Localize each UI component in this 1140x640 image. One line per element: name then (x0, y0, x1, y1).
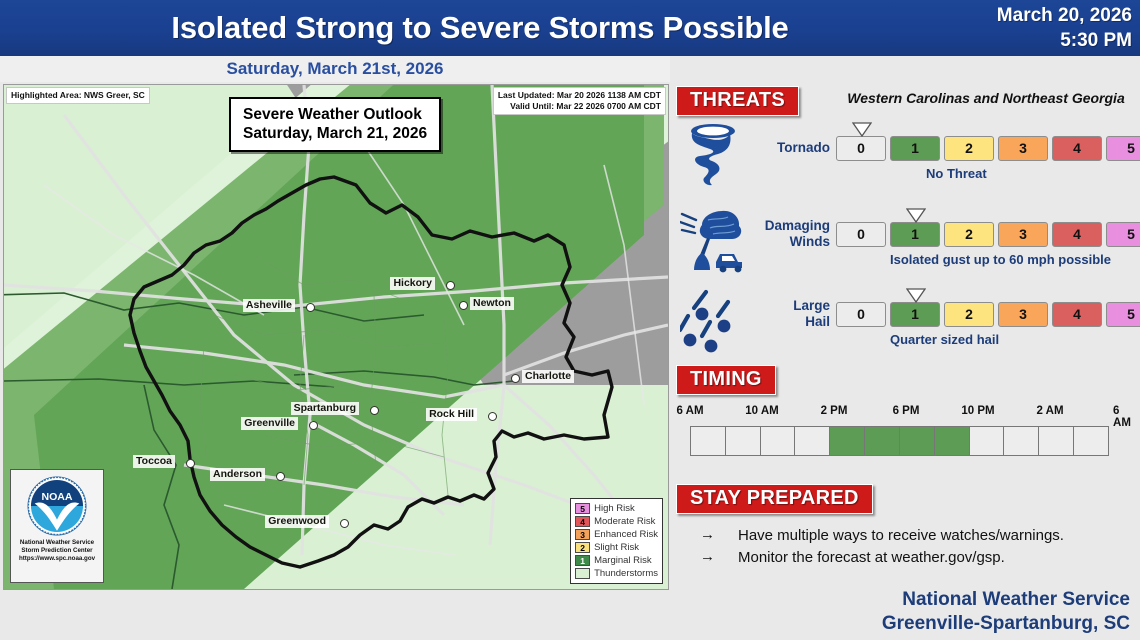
city-dot-icon (446, 281, 455, 290)
noaa-line-3: https://www.spc.noaa.gov (11, 555, 103, 563)
legend-swatch: 4 (575, 516, 590, 527)
right-column: THREATS Western Carolinas and Northeast … (676, 60, 1136, 580)
legend-row: Thunderstorms (575, 567, 658, 580)
threat-scale-cell[interactable]: 5 (1106, 302, 1140, 327)
threat-scale-cell[interactable]: 4 (1052, 136, 1102, 161)
timing-cell[interactable] (1073, 426, 1109, 456)
threat-scale-cell[interactable]: 2 (944, 136, 994, 161)
timing-cell[interactable] (794, 426, 830, 456)
threat-name-label: LargeHail (738, 298, 830, 330)
header-bar: Isolated Strong to Severe Storms Possibl… (0, 0, 1140, 56)
legend-swatch (575, 568, 590, 579)
legend-row: 4Moderate Risk (575, 515, 658, 528)
page-title: Isolated Strong to Severe Storms Possibl… (0, 6, 960, 50)
legend-row: 5High Risk (575, 502, 658, 515)
city-label: Asheville (243, 299, 295, 312)
legend-row: 1Marginal Risk (575, 554, 658, 567)
threat-scale-cell[interactable]: 2 (944, 222, 994, 247)
footer-line-1: National Weather Service (882, 588, 1130, 612)
stay-prepared-text: Monitor the forecast at weather.gov/gsp. (738, 548, 1005, 567)
city-label: Newton (470, 297, 514, 310)
threat-scale-cell[interactable]: 3 (998, 222, 1048, 247)
timing-axis-label: 6 AM (1113, 405, 1131, 429)
threat-description: Isolated gust up to 60 mph possible (890, 252, 1111, 267)
stay-prepared-list: →Have multiple ways to receive watches/w… (700, 526, 1130, 570)
map-update-note: Last Updated: Mar 20 2026 1138 AM CDT Va… (493, 87, 666, 115)
timing-cell[interactable] (899, 426, 935, 456)
city-dot-icon (459, 301, 468, 310)
city-dot-icon (488, 412, 497, 421)
outlook-title-box: Severe Weather Outlook Saturday, March 2… (229, 97, 441, 152)
noaa-seal-icon: NOAA (26, 475, 88, 537)
timing-axis-label: 2 PM (821, 405, 848, 417)
risk-legend: 5High Risk4Moderate Risk3Enhanced Risk2S… (570, 498, 663, 584)
city-dot-icon (276, 472, 285, 481)
threat-scale-cell[interactable]: 5 (1106, 136, 1140, 161)
legend-label: Marginal Risk (594, 555, 652, 566)
threat-scale-cell[interactable]: 0 (836, 302, 886, 327)
footer-line-2: Greenville-Spartanburg, SC (882, 612, 1130, 636)
legend-row: 2Slight Risk (575, 541, 658, 554)
threat-scale-cell[interactable]: 1 (890, 302, 940, 327)
legend-swatch: 1 (575, 555, 590, 566)
arrow-icon: → (700, 548, 738, 565)
legend-swatch: 2 (575, 542, 590, 553)
forecast-day-subtitle: Saturday, March 21st, 2026 (0, 56, 670, 82)
threat-name-label: Tornado (738, 140, 830, 156)
header-time-text: 5:30 PM (942, 28, 1132, 53)
stay-prepared-item: →Have multiple ways to receive watches/w… (700, 526, 1130, 545)
noaa-logo: NOAA National Weather Service Storm Pred… (10, 469, 104, 583)
legend-label: Moderate Risk (594, 516, 655, 527)
city-dot-icon (340, 519, 349, 528)
office-footer: National Weather Service Greenville-Spar… (882, 588, 1130, 636)
city-label: Anderson (210, 468, 265, 481)
svg-text:NOAA: NOAA (41, 491, 72, 503)
timing-axis-label: 6 PM (893, 405, 920, 417)
noaa-line-1: National Weather Service (11, 539, 103, 547)
last-updated-text: Last Updated: Mar 20 2026 1138 AM CDT (498, 90, 661, 101)
timing-cell[interactable] (760, 426, 796, 456)
weather-graphic: Isolated Strong to Severe Storms Possibl… (0, 0, 1140, 640)
legend-label: Thunderstorms (594, 568, 658, 579)
timing-heading: TIMING (676, 365, 776, 395)
legend-label: Slight Risk (594, 542, 639, 553)
legend-row: 3Enhanced Risk (575, 528, 658, 541)
city-dot-icon (186, 459, 195, 468)
outlook-title: Severe Weather Outlook (243, 105, 427, 124)
timing-bar (690, 426, 1108, 456)
timing-cell[interactable] (725, 426, 761, 456)
city-dot-icon (511, 374, 520, 383)
highlighted-area-note: Highlighted Area: NWS Greer, SC (6, 87, 150, 104)
threat-scale: 012345 (836, 222, 1140, 247)
city-label: Charlotte (522, 370, 574, 383)
city-dot-icon (306, 303, 315, 312)
threats-heading: THREATS (676, 86, 799, 116)
threat-scale-cell[interactable]: 0 (836, 222, 886, 247)
outlook-map: Highlighted Area: NWS Greer, SC Last Upd… (3, 84, 669, 590)
threat-scale: 012345 (836, 302, 1140, 327)
noaa-line-2: Storm Prediction Center (11, 547, 103, 555)
legend-swatch: 5 (575, 503, 590, 514)
stay-prepared-item: →Monitor the forecast at weather.gov/gsp… (700, 548, 1130, 567)
timing-cell[interactable] (829, 426, 865, 456)
header-timestamp: March 20, 2026 5:30 PM (942, 3, 1132, 53)
city-label: Toccoa (133, 455, 175, 468)
legend-swatch: 3 (575, 529, 590, 540)
city-label: Spartanburg (291, 402, 359, 415)
city-label: Greenville (241, 417, 298, 430)
stay-prepared-text: Have multiple ways to receive watches/wa… (738, 526, 1064, 545)
threat-scale-cell[interactable]: 0 (836, 136, 886, 161)
timing-axis-label: 10 AM (745, 405, 778, 417)
timing-axis-labels: 6 AM10 AM2 PM6 PM10 PM2 AM6 AM (680, 405, 1132, 421)
threat-scale-cell[interactable]: 3 (998, 302, 1048, 327)
threat-scale-cell[interactable]: 2 (944, 302, 994, 327)
arrow-icon: → (700, 526, 738, 543)
threat-scale-cell[interactable]: 4 (1052, 222, 1102, 247)
timing-cell[interactable] (934, 426, 970, 456)
city-dot-icon (370, 406, 379, 415)
city-label: Hickory (390, 277, 435, 290)
legend-label: High Risk (594, 503, 635, 514)
threats-region-label: Western Carolinas and Northeast Georgia (836, 90, 1136, 106)
threat-scale-cell[interactable]: 3 (998, 136, 1048, 161)
threat-scale-cell[interactable]: 1 (890, 222, 940, 247)
timing-cell[interactable] (969, 426, 1005, 456)
outlook-date: Saturday, March 21, 2026 (243, 124, 427, 143)
timing-axis-label: 6 AM (676, 405, 703, 417)
threat-scale-cell[interactable]: 5 (1106, 222, 1140, 247)
city-dot-icon (309, 421, 318, 430)
timing-axis-label: 10 PM (961, 405, 994, 417)
timing-axis-label: 2 AM (1036, 405, 1063, 417)
threat-scale: 012345 (836, 136, 1140, 161)
header-date-text: March 20, 2026 (942, 3, 1132, 28)
city-label: Rock Hill (426, 408, 477, 421)
legend-label: Enhanced Risk (594, 529, 658, 540)
timing-cell[interactable] (864, 426, 900, 456)
threat-scale-cell[interactable]: 4 (1052, 302, 1102, 327)
city-label: Greenwood (265, 515, 329, 528)
valid-until-text: Valid Until: Mar 22 2026 0700 AM CDT (498, 101, 661, 112)
timing-cell[interactable] (690, 426, 726, 456)
timing-cell[interactable] (1003, 426, 1039, 456)
threat-description: Quarter sized hail (890, 332, 999, 347)
timing-cell[interactable] (1038, 426, 1074, 456)
threat-description: No Threat (926, 166, 987, 181)
stay-prepared-heading: STAY PREPARED (676, 484, 873, 514)
threat-name-label: DamagingWinds (738, 218, 830, 250)
threat-scale-cell[interactable]: 1 (890, 136, 940, 161)
